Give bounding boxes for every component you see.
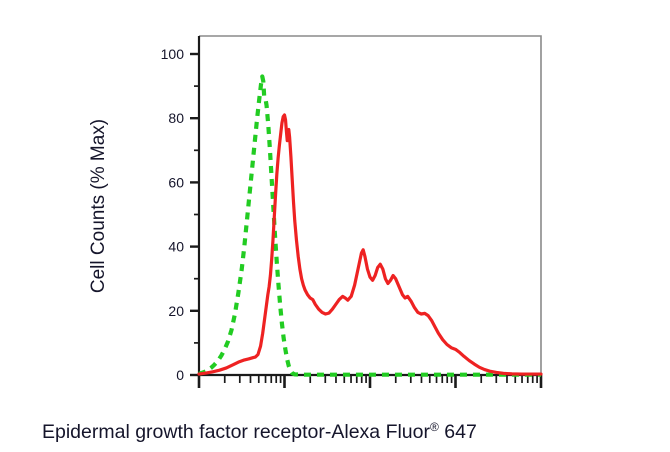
y-tick-label: 0 [176,367,184,383]
flow-cytometry-figure: 020406080100 Cell Counts (% Max) Epiderm… [0,0,670,452]
caption-trailing-text: 647 [439,421,477,443]
caption-main-text: Epidermal growth factor receptor-Alexa F… [42,421,430,443]
figure-caption: Epidermal growth factor receptor-Alexa F… [42,420,477,443]
y-axis-title: Cell Counts (% Max) [88,119,109,293]
caption-registered-mark: ® [430,420,439,434]
y-tick-label: 80 [168,110,184,126]
y-tick-label: 40 [168,239,184,255]
y-tick-label: 100 [161,46,185,62]
y-tick-label: 60 [168,174,184,190]
y-tick-label: 20 [168,303,184,319]
